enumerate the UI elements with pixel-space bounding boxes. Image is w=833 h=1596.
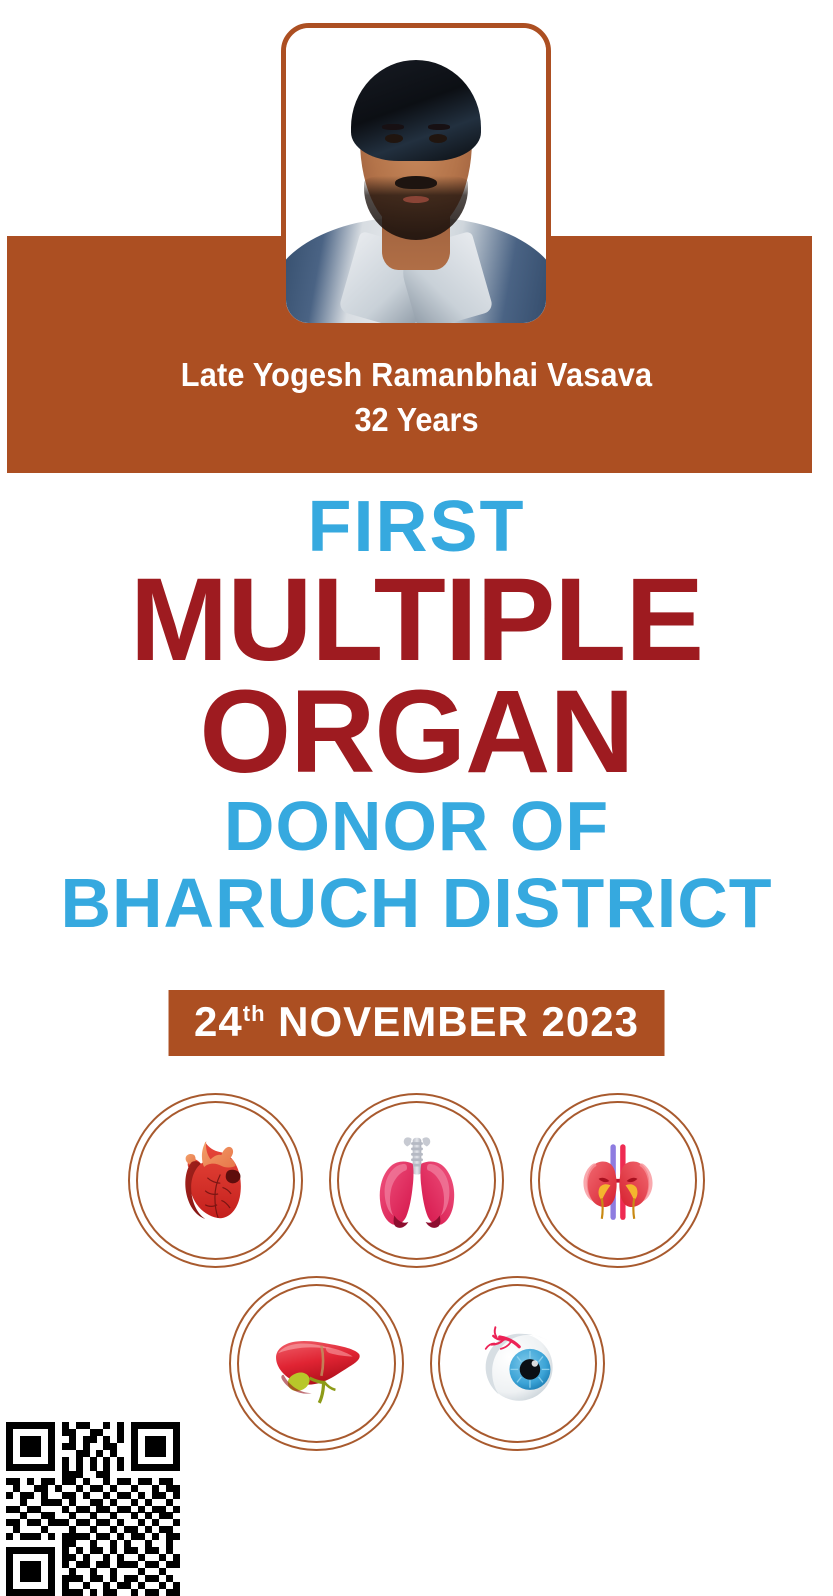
portrait-eyebrow-right <box>428 124 450 130</box>
portrait-hair <box>351 60 481 160</box>
event-date-band: 24th NOVEMBER 2023 <box>168 990 665 1056</box>
date-ordinal: th <box>243 1001 266 1026</box>
headline-line-organ: ORGAN <box>0 676 833 788</box>
organ-badge-eye <box>430 1276 605 1451</box>
organ-badge-liver <box>229 1276 404 1451</box>
portrait-eyebrow-left <box>382 124 404 130</box>
organ-row-1 <box>0 1093 833 1268</box>
portrait-moustache <box>395 176 437 189</box>
organs-section <box>0 1093 833 1451</box>
organ-badge-heart <box>128 1093 303 1268</box>
liver-icon <box>262 1310 370 1418</box>
eye-icon <box>463 1310 571 1418</box>
portrait-eye-left <box>385 134 403 143</box>
headline-line-donor-of: DONOR OF <box>0 788 833 864</box>
lungs-icon <box>363 1127 471 1235</box>
heart-icon <box>162 1127 270 1235</box>
organ-badge-kidneys <box>530 1093 705 1268</box>
date-day: 24 <box>194 998 243 1045</box>
donor-age: 32 Years <box>29 397 804 442</box>
kidneys-icon <box>564 1127 672 1235</box>
headline-line-first: FIRST <box>0 490 833 564</box>
organ-badge-lungs <box>329 1093 504 1268</box>
headline-block: FIRST MULTIPLE ORGAN DONOR OF BHARUCH DI… <box>0 490 833 942</box>
tribute-name-block: Late Yogesh Ramanbhai Vasava 32 Years <box>0 352 833 442</box>
poster-root: Late Yogesh Ramanbhai Vasava 32 Years FI… <box>0 0 833 1596</box>
date-month-year: NOVEMBER 2023 <box>278 998 639 1045</box>
donor-name: Late Yogesh Ramanbhai Vasava <box>29 352 804 397</box>
qr-code[interactable] <box>6 1422 180 1596</box>
headline-line-multiple: MULTIPLE <box>0 564 833 676</box>
headline-line-bharuch-district: BHARUCH DISTRICT <box>0 864 833 942</box>
donor-photo-frame <box>281 23 551 328</box>
donor-photo <box>286 28 546 323</box>
